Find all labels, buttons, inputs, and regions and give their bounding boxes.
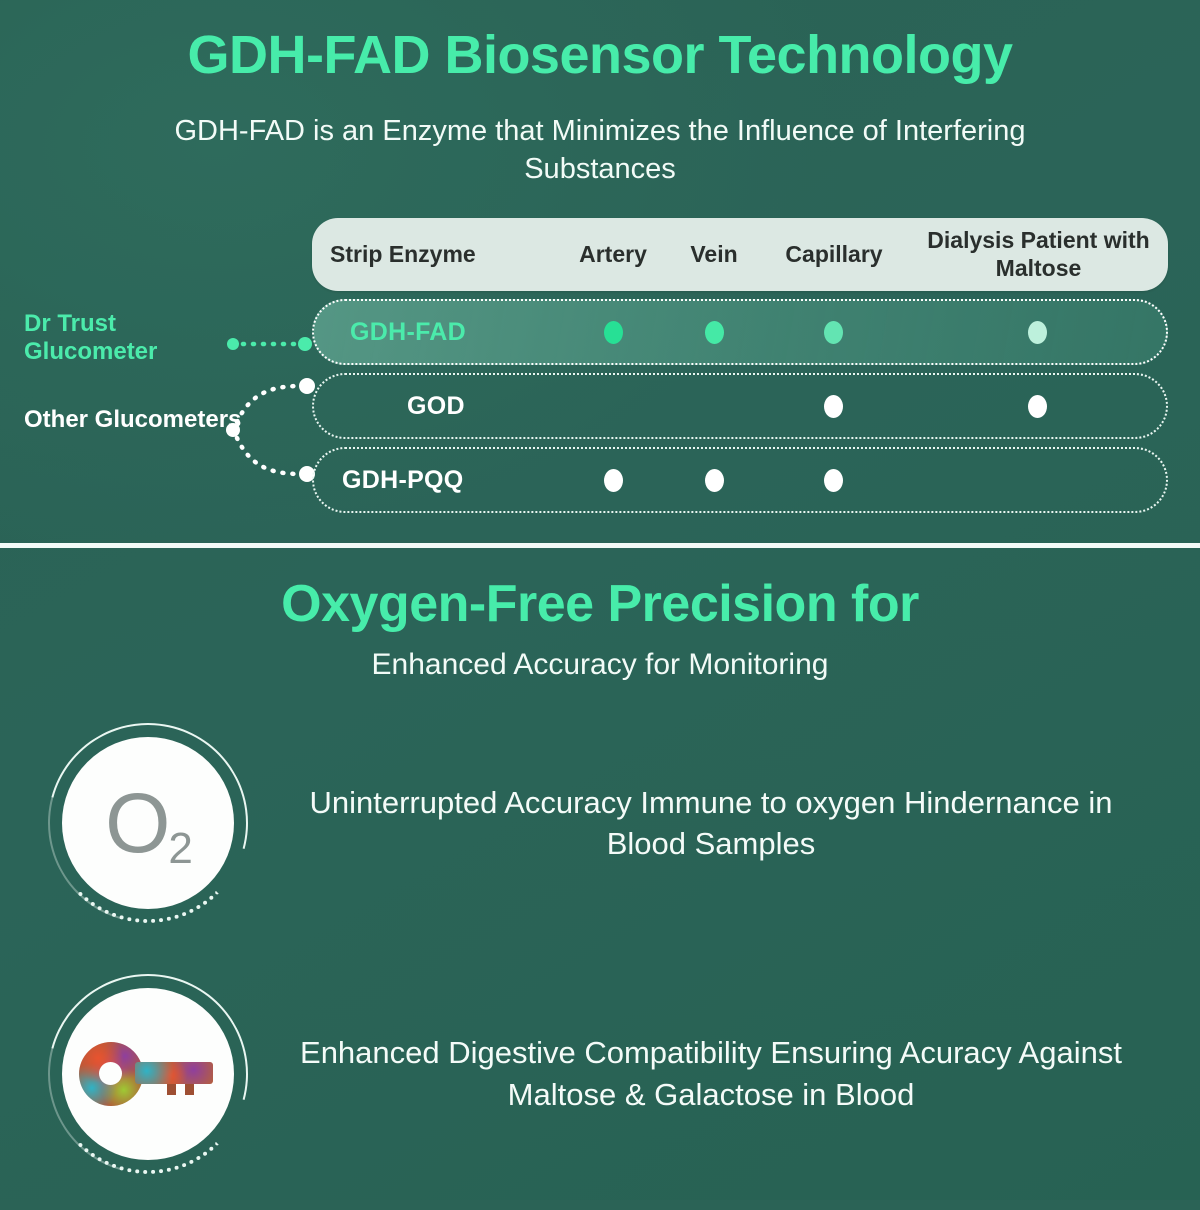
column-header-vein: Vein <box>669 241 759 268</box>
column-header-strip-enzyme: Strip Enzyme <box>312 241 557 268</box>
status-dot <box>604 469 623 492</box>
cell-god-capillary <box>759 375 908 437</box>
status-dot <box>1028 395 1047 418</box>
status-dot-empty <box>604 395 623 418</box>
cell-god-artery <box>558 375 669 437</box>
cell-gdh-fad-vein <box>669 301 759 363</box>
feature-text-oxygen: Uninterrupted Accuracy Immune to oxygen … <box>248 782 1200 864</box>
key-shaft <box>135 1062 213 1084</box>
status-dot <box>604 321 623 344</box>
status-dot <box>705 469 724 492</box>
status-dot <box>824 469 843 492</box>
row-label-god: GOD <box>314 375 558 437</box>
feature-item-oxygen: O2 Uninterrupted Accuracy Immune to oxyg… <box>0 693 1200 953</box>
section2-subtitle: Enhanced Accuracy for Monitoring <box>0 648 1200 682</box>
cell-gdh-fad-capillary <box>759 301 908 363</box>
status-dot-empty <box>705 395 724 418</box>
row-label-gdh-pqq: GDH-PQQ <box>314 449 558 511</box>
o2-badge: O2 <box>48 723 248 923</box>
section1-subtitle: GDH-FAD is an Enzyme that Minimizes the … <box>100 112 1100 189</box>
column-header-dialysis-maltose: Dialysis Patient with Maltose <box>909 227 1168 281</box>
cell-god-dialysis <box>908 375 1166 437</box>
connector-lines <box>225 300 325 510</box>
cell-gdh-pqq-artery <box>558 449 669 511</box>
table-header-row: Strip Enzyme Artery Vein Capillary Dialy… <box>312 218 1168 291</box>
feature-item-digestive: Enhanced Digestive Compatibility Ensurin… <box>0 956 1200 1191</box>
table-row[interactable]: GDH-PQQ <box>312 447 1168 513</box>
cell-gdh-pqq-vein <box>669 449 759 511</box>
status-dot <box>705 321 724 344</box>
cell-god-vein <box>669 375 759 437</box>
cell-gdh-fad-dialysis <box>908 301 1166 363</box>
section-oxygen-free: Oxygen-Free Precision for Enhanced Accur… <box>0 548 1200 1200</box>
connector-dot-start-drtrust <box>227 338 239 350</box>
section2-title: Oxygen-Free Precision for <box>0 574 1200 634</box>
status-dot <box>824 395 843 418</box>
key-icon <box>79 1042 217 1106</box>
status-dot-empty <box>1028 469 1047 492</box>
key-badge <box>48 974 248 1174</box>
label-other-glucometers: Other Glucometers <box>24 406 244 434</box>
column-header-capillary: Capillary <box>759 241 909 268</box>
enzyme-comparison-table: Strip Enzyme Artery Vein Capillary Dialy… <box>312 218 1168 513</box>
cell-gdh-fad-artery <box>558 301 669 363</box>
cell-gdh-pqq-capillary <box>759 449 908 511</box>
cell-gdh-pqq-dialysis <box>908 449 1166 511</box>
section1-title: GDH-FAD Biosensor Technology <box>0 26 1200 85</box>
section-biosensor: GDH-FAD Biosensor Technology GDH-FAD is … <box>0 0 1200 545</box>
table-row[interactable]: GOD <box>312 373 1168 439</box>
badge-disc <box>62 988 234 1160</box>
key-hole <box>99 1062 122 1085</box>
status-dot <box>1028 321 1047 344</box>
connector-dot-end-drtrust <box>298 337 312 351</box>
feature-text-digestive: Enhanced Digestive Compatibility Ensurin… <box>248 1032 1200 1114</box>
infographic-page: GDH-FAD Biosensor Technology GDH-FAD is … <box>0 0 1200 1200</box>
badge-disc: O2 <box>62 737 234 909</box>
o2-icon: O2 <box>105 781 191 865</box>
row-label-gdh-fad: GDH-FAD <box>314 301 558 363</box>
status-dot <box>824 321 843 344</box>
column-header-artery: Artery <box>557 241 669 268</box>
table-row[interactable]: GDH-FAD <box>312 299 1168 365</box>
label-dr-trust-glucometer: Dr Trust Glucometer <box>24 310 239 366</box>
key-tooth <box>185 1084 194 1095</box>
key-tooth <box>167 1084 176 1095</box>
connector-dot-start-other <box>226 423 240 437</box>
